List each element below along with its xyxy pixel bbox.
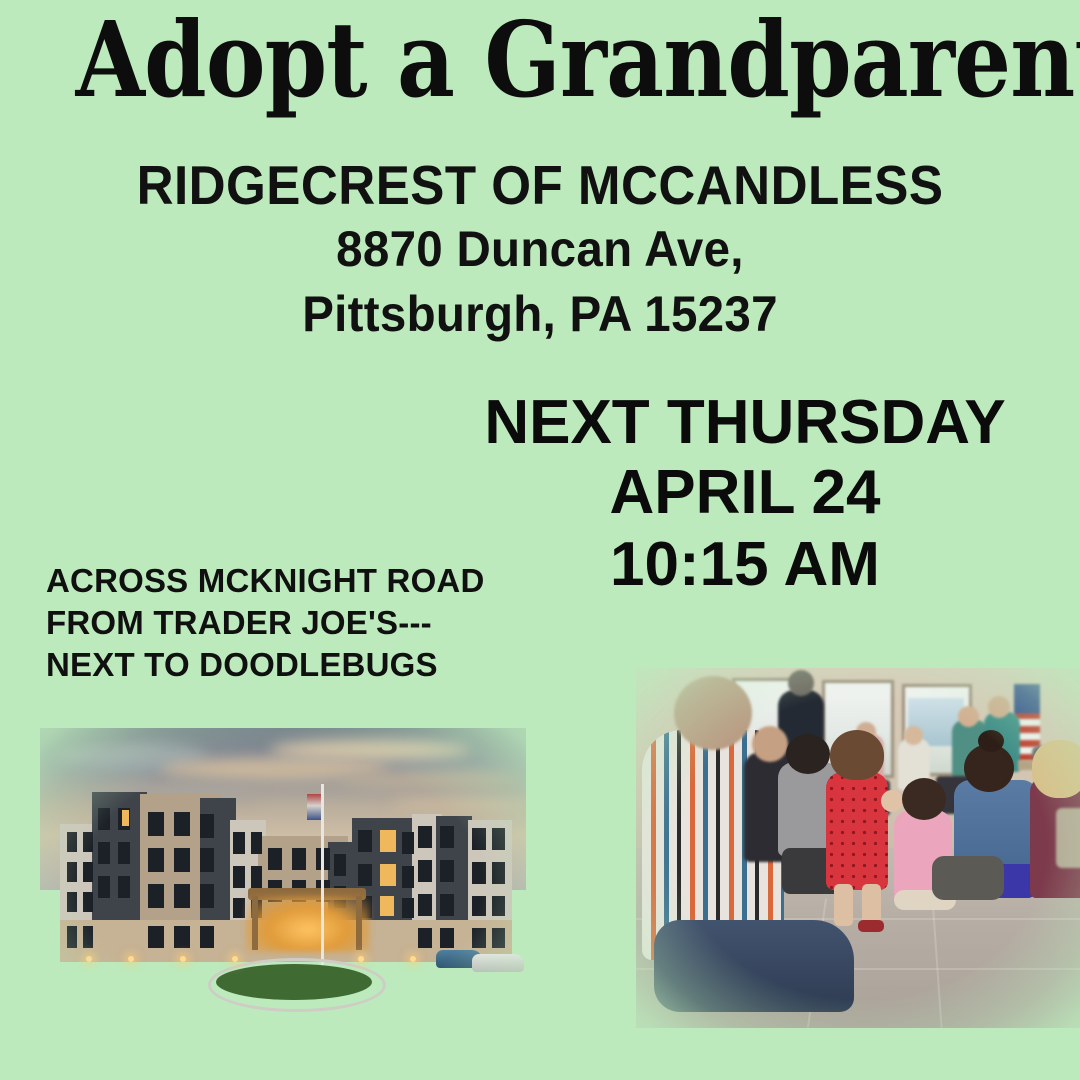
american-flag bbox=[307, 794, 321, 820]
window bbox=[83, 832, 93, 852]
window bbox=[174, 926, 190, 948]
window bbox=[174, 848, 190, 872]
window bbox=[83, 926, 93, 948]
window bbox=[67, 926, 77, 948]
cloud bbox=[270, 740, 470, 760]
adult-head bbox=[674, 676, 752, 750]
landscape-light bbox=[86, 956, 92, 962]
window bbox=[418, 928, 432, 948]
window bbox=[402, 898, 414, 918]
toddler-head bbox=[830, 730, 884, 780]
landscape-light bbox=[410, 956, 416, 962]
window-lit bbox=[380, 830, 396, 852]
canopy-column bbox=[356, 896, 362, 950]
senior-head bbox=[958, 706, 979, 727]
adult-denim-bun bbox=[978, 730, 1004, 752]
window bbox=[67, 892, 77, 912]
child-pink-head bbox=[902, 778, 946, 820]
window bbox=[251, 866, 262, 888]
island-curb bbox=[208, 958, 386, 1012]
window bbox=[148, 848, 164, 872]
window bbox=[472, 896, 486, 916]
window bbox=[200, 848, 214, 872]
child-head bbox=[786, 734, 830, 774]
standing-adult-head bbox=[788, 670, 814, 696]
event-datetime-block: NEXT THURSDAY APRIL 24 10:15 AM bbox=[410, 388, 1080, 600]
event-date: APRIL 24 bbox=[410, 457, 1080, 528]
window bbox=[472, 828, 486, 850]
cloud bbox=[340, 772, 520, 790]
toddler-arm bbox=[881, 790, 903, 812]
window bbox=[440, 928, 454, 948]
parked-car bbox=[472, 954, 524, 972]
flyer-canvas: Adopt a Grandparent RIDGECREST OF MCCAND… bbox=[0, 0, 1080, 1080]
window bbox=[492, 862, 505, 884]
flagpole bbox=[321, 784, 324, 974]
event-day: NEXT THURSDAY bbox=[410, 388, 1080, 457]
window-lit bbox=[122, 810, 129, 826]
senior-head bbox=[988, 696, 1010, 718]
community-photo-content bbox=[636, 668, 1080, 1028]
window-lit bbox=[380, 896, 394, 916]
child-far-right-head bbox=[1032, 740, 1080, 798]
window bbox=[148, 884, 164, 908]
landscape-light bbox=[232, 956, 238, 962]
directions-line-2: FROM TRADER JOE'S--- bbox=[46, 602, 485, 644]
window bbox=[492, 928, 505, 948]
window bbox=[402, 832, 414, 854]
window bbox=[200, 814, 214, 838]
window bbox=[233, 866, 245, 888]
community-room-visit-photo bbox=[636, 668, 1080, 1028]
window bbox=[148, 812, 164, 836]
adult-behind-head bbox=[752, 726, 788, 762]
window bbox=[174, 884, 190, 908]
window bbox=[492, 828, 505, 850]
window bbox=[148, 926, 164, 948]
window bbox=[174, 812, 190, 836]
toddler-shoe bbox=[858, 920, 884, 932]
venue-city-state-zip: Pittsburgh, PA 15237 bbox=[27, 282, 1053, 347]
window bbox=[118, 842, 130, 864]
cloud bbox=[390, 798, 526, 814]
directions-block: ACROSS MCKNIGHT ROAD FROM TRADER JOE'S--… bbox=[46, 560, 485, 686]
window bbox=[292, 848, 306, 870]
page-title: Adopt a Grandparent bbox=[76, 8, 1005, 112]
window bbox=[472, 862, 486, 884]
ridgecrest-building-exterior-photo bbox=[40, 728, 526, 1040]
window bbox=[402, 866, 414, 888]
window bbox=[233, 832, 245, 854]
adult-jeans bbox=[654, 920, 854, 1012]
window bbox=[98, 842, 110, 864]
window bbox=[251, 832, 262, 854]
window bbox=[418, 826, 432, 848]
entrance-lighting bbox=[246, 896, 370, 952]
window bbox=[440, 894, 454, 916]
building-photo-content bbox=[40, 728, 526, 1040]
window bbox=[200, 884, 214, 908]
window bbox=[98, 808, 110, 830]
window bbox=[83, 892, 93, 912]
directions-line-3: NEXT TO DOODLEBUGS bbox=[46, 644, 485, 686]
window bbox=[98, 876, 110, 898]
toddler-leg bbox=[834, 884, 853, 926]
landscape-light bbox=[180, 956, 186, 962]
window bbox=[268, 848, 282, 870]
landscape-light bbox=[128, 956, 134, 962]
canopy-column bbox=[252, 896, 258, 950]
directions-line-1: ACROSS MCKNIGHT ROAD bbox=[46, 560, 485, 602]
window bbox=[418, 860, 432, 882]
window bbox=[233, 898, 245, 918]
window bbox=[118, 876, 130, 898]
window bbox=[440, 826, 454, 848]
event-time: 10:15 AM bbox=[410, 529, 1080, 600]
window bbox=[418, 894, 432, 916]
adult-denim-legs bbox=[932, 856, 1004, 900]
window bbox=[83, 862, 93, 882]
senior-head bbox=[904, 726, 923, 745]
window bbox=[492, 896, 505, 916]
window bbox=[67, 832, 77, 852]
venue-address-block: RIDGECREST OF MCCANDLESS 8870 Duncan Ave… bbox=[0, 155, 1080, 347]
window bbox=[67, 862, 77, 882]
venue-street-address: 8870 Duncan Ave, bbox=[27, 217, 1053, 282]
venue-name: RIDGECREST OF MCCANDLESS bbox=[38, 155, 1042, 217]
toddler-red-romper bbox=[826, 772, 888, 890]
landscape-light bbox=[358, 956, 364, 962]
chair bbox=[1056, 808, 1080, 868]
window bbox=[334, 854, 346, 876]
window bbox=[358, 864, 372, 886]
window bbox=[440, 860, 454, 882]
window bbox=[472, 928, 486, 948]
window bbox=[358, 830, 372, 852]
window bbox=[200, 926, 214, 948]
window-lit bbox=[380, 864, 396, 886]
